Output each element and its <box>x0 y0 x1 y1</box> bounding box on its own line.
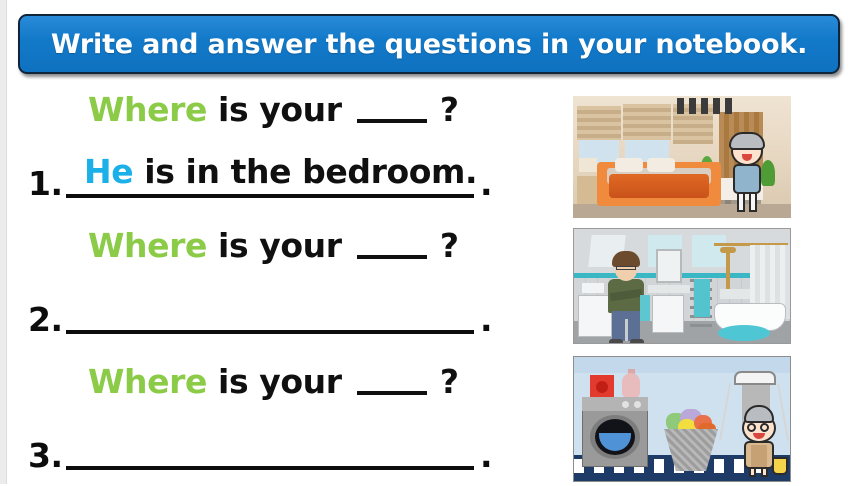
question-rest-1: is your <box>218 90 342 129</box>
question-rest-2: is your <box>218 226 342 265</box>
man-shoe-left <box>609 339 623 344</box>
boy-body <box>733 164 761 194</box>
question-line-3: Where is your ? <box>88 362 459 401</box>
bedroom-lamp <box>579 158 597 172</box>
man-hair <box>612 251 640 267</box>
bathroom-illustration <box>573 228 791 344</box>
question-line-1: Where is your ? <box>88 90 459 129</box>
bathroom-hanging-towel <box>694 279 710 317</box>
boy-character <box>725 132 769 218</box>
question-line-2: Where is your ? <box>88 226 459 265</box>
man-character <box>606 251 650 344</box>
answer-period-3: . <box>480 436 493 475</box>
washing-machine-knob-1 <box>622 401 629 408</box>
grandmother-leg-left <box>749 467 756 477</box>
bedroom-nightstand <box>577 176 599 204</box>
man-towel <box>640 295 650 321</box>
exercise-item-1: Where is your ? 1. . He is in the bedroo… <box>0 86 560 214</box>
man-shoe-right <box>630 339 644 344</box>
picture-column <box>573 0 864 484</box>
bedroom-pillow-1 <box>615 158 643 172</box>
laundry-drying-rack-top <box>734 371 776 385</box>
answer-period-2: . <box>480 300 493 339</box>
boy-hair <box>729 132 765 150</box>
question-word-1: Where <box>88 90 207 129</box>
laundry-room-illustration <box>573 356 791 482</box>
grandmother-apron <box>751 445 767 467</box>
question-word-2: Where <box>88 226 207 265</box>
boy-leg-left <box>737 192 745 212</box>
answer-blank-line-3[interactable] <box>66 466 474 470</box>
item-number-2: 2. <box>28 300 63 339</box>
grandmother-hair <box>744 405 774 423</box>
bedroom-duvet <box>609 174 709 198</box>
grandmother-bag <box>772 457 788 475</box>
answer-rest-1: is in the bedroom. <box>144 152 477 191</box>
boy-eye-left <box>738 148 744 150</box>
question-word-3: Where <box>88 362 207 401</box>
grandmother-character <box>734 405 786 479</box>
question-mark-1: ? <box>440 90 459 129</box>
laundry-scene <box>574 357 790 481</box>
bathroom-shower-pipe <box>726 249 730 291</box>
bedroom-ceiling-light <box>677 98 737 114</box>
answer-blank-line-1[interactable] <box>66 194 474 198</box>
washing-machine-knob-2 <box>634 401 641 408</box>
grandmother-glasses-right <box>760 423 769 432</box>
question-mark-3: ? <box>440 362 459 401</box>
boy-leg-right <box>749 192 757 212</box>
answer-row-1: 1. . He is in the bedroom. <box>0 138 560 202</box>
answer-blank-line-2[interactable] <box>66 330 474 334</box>
detergent-bottle <box>622 373 640 399</box>
answer-row-3: 3. . <box>0 410 560 474</box>
question-rest-3: is your <box>218 362 342 401</box>
grandmother-glasses-left <box>747 423 756 432</box>
man-leg-gap <box>625 319 628 341</box>
answer-period-1: . <box>480 164 493 203</box>
exercise-list: Where is your ? 1. . He is in the bedroo… <box>0 86 560 484</box>
question-blank-2[interactable] <box>357 255 427 259</box>
question-blank-1[interactable] <box>357 119 427 123</box>
bathroom-towels <box>582 283 604 293</box>
bathroom-mirror <box>656 249 682 283</box>
grandmother-leg-right <box>761 467 768 477</box>
bedroom-pillow-2 <box>647 158 675 172</box>
bathroom-sink <box>652 295 684 333</box>
question-mark-2: ? <box>440 226 459 265</box>
bedroom-blind-2 <box>623 104 671 140</box>
boy-eye-right <box>750 148 756 150</box>
exercise-item-2: Where is your ? 2. . <box>0 222 560 350</box>
bedroom-scene <box>573 96 791 218</box>
exercise-item-3: Where is your ? 3. . <box>0 358 560 486</box>
bathroom-counter <box>648 285 690 293</box>
answer-row-2: 2. . <box>0 274 560 338</box>
answer-pronoun-1: He <box>84 152 133 191</box>
man-glasses <box>616 266 636 270</box>
bathroom-shelf <box>720 289 750 299</box>
bathroom-rug <box>718 325 770 341</box>
answer-text-1: He is in the bedroom. <box>84 152 477 191</box>
item-number-3: 3. <box>28 436 63 475</box>
bedroom-photo <box>573 96 791 218</box>
detergent-box-logo <box>596 381 608 393</box>
question-blank-3[interactable] <box>357 391 427 395</box>
bedroom-blind-1 <box>577 106 621 140</box>
bathroom-scene <box>574 229 790 343</box>
item-number-1: 1. <box>28 164 63 203</box>
